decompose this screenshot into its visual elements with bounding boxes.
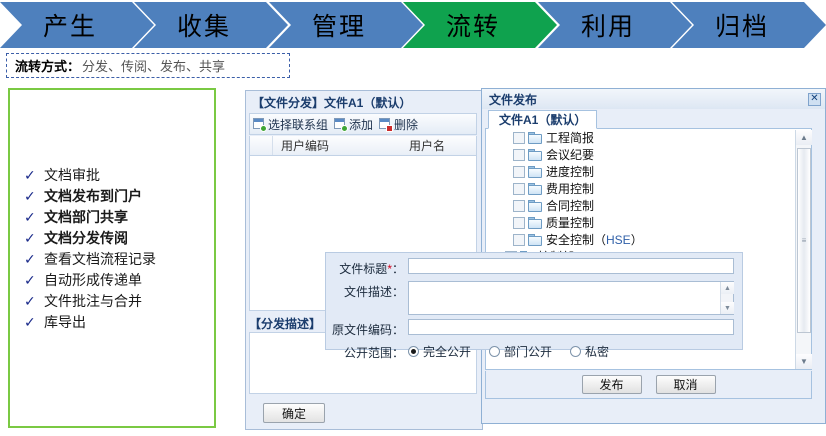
tree-item-label: 安全控制（HSE） <box>546 231 643 248</box>
radio-icon[interactable] <box>489 346 500 357</box>
tree-item-label: 会议纪要 <box>546 146 594 163</box>
flow-method-note: 流转方式： 分发、传阅、发布、共享 <box>6 53 290 78</box>
file-publish-titlebar: 文件发布 ✕ <box>482 89 825 109</box>
checklist-item-label: 文档发布到门户 <box>44 186 142 206</box>
scope-radio-option[interactable]: 部门公开 <box>489 343 552 360</box>
tree-checkbox[interactable] <box>513 149 525 161</box>
tree-item-label: 合同控制 <box>546 197 594 214</box>
checklist-item: ✓查看文档流程记录 <box>24 249 214 270</box>
toolbar-button-label: 选择联系组 <box>268 116 328 133</box>
flow-method-value: 分发、传阅、发布、共享 <box>82 56 225 75</box>
scroll-up-icon[interactable]: ▲ <box>796 130 812 145</box>
tree-checkbox[interactable] <box>513 234 525 246</box>
check-icon: ✓ <box>24 314 44 331</box>
scope-radio-label: 私密 <box>585 343 609 360</box>
tree-indent-spacer: ▶ <box>492 236 505 244</box>
publish-button[interactable]: 发布 <box>582 375 642 394</box>
check-icon: ✓ <box>24 272 44 289</box>
scroll-up-icon[interactable]: ▲ <box>721 282 734 294</box>
check-icon: ✓ <box>24 293 44 310</box>
form-row: 文件标题*： <box>326 258 734 277</box>
toolbar-button[interactable]: 添加 <box>334 116 373 133</box>
radio-icon[interactable] <box>408 346 419 357</box>
process-step-5[interactable]: 利用 <box>538 2 692 48</box>
checklist-item: ✓自动形成传递单 <box>24 270 214 291</box>
scope-radio-option[interactable]: 完全公开 <box>408 343 471 360</box>
tree-checkbox[interactable] <box>513 166 525 178</box>
tree-checkbox[interactable] <box>513 183 525 195</box>
grid-gutter <box>250 136 273 155</box>
file-publish-title: 文件发布 <box>489 91 537 108</box>
folder-icon <box>528 132 542 144</box>
tree-item[interactable]: ▶安全控制（HSE） <box>486 231 811 248</box>
file-title-input[interactable] <box>408 258 734 274</box>
process-step-label: 管理 <box>312 7 366 43</box>
checklist-item: ✓文档发布到门户 <box>24 186 214 207</box>
checklist-item: ✓文档分发传阅 <box>24 228 214 249</box>
toolbar-button[interactable]: 删除 <box>379 116 418 133</box>
checklist-item-label: 自动形成传递单 <box>44 270 142 290</box>
tree-item[interactable]: ▶合同控制 <box>486 197 811 214</box>
feature-checklist: ✓文档审批✓文档发布到门户✓文档部门共享✓文档分发传阅✓查看文档流程记录✓自动形… <box>24 165 214 333</box>
flow-method-label: 流转方式： <box>15 56 80 75</box>
file-description-textarea[interactable]: ▲▼ <box>408 281 734 315</box>
form-field-label: 原文件编码： <box>326 319 408 338</box>
column-header-user-name[interactable]: 用户名 <box>401 137 445 154</box>
tree-checkbox[interactable] <box>513 132 525 144</box>
tree-indent-spacer: ▶ <box>492 134 505 142</box>
radio-icon[interactable] <box>570 346 581 357</box>
tree-indent-spacer: ▶ <box>492 202 505 210</box>
file-distribution-title: 【文件分发】文件A1（默认） <box>246 92 478 112</box>
check-icon: ✓ <box>24 167 44 184</box>
checklist-item-label: 查看文档流程记录 <box>44 249 156 269</box>
tree-checkbox[interactable] <box>513 217 525 229</box>
scope-radio-label: 完全公开 <box>423 343 471 360</box>
column-header-user-code[interactable]: 用户编码 <box>273 137 401 154</box>
scope-row: 公开范围：完全公开部门公开私密 <box>326 342 734 361</box>
process-step-label: 收集 <box>177 7 231 43</box>
original-file-code-input[interactable] <box>408 319 734 335</box>
form-field-label: 文件标题*： <box>326 258 408 277</box>
scope-label: 公开范围： <box>326 342 408 361</box>
scrollbar-thumb[interactable]: ≡ <box>797 148 811 333</box>
feature-checklist-panel: ✓文档审批✓文档发布到门户✓文档部门共享✓文档分发传阅✓查看文档流程记录✓自动形… <box>8 88 216 428</box>
check-icon: ✓ <box>24 251 44 268</box>
close-icon[interactable]: ✕ <box>808 93 821 106</box>
scroll-down-icon[interactable]: ▼ <box>721 302 734 314</box>
tree-item-label: 费用控制 <box>546 180 594 197</box>
process-step-2[interactable]: 收集 <box>134 2 288 48</box>
tree-indent-spacer: ▶ <box>492 168 505 176</box>
tree-item-label: 工程简报 <box>546 129 594 146</box>
folder-icon <box>528 200 542 212</box>
toolbar-button-label: 添加 <box>349 116 373 133</box>
tree-item-label: 进度控制 <box>546 163 594 180</box>
tree-indent-spacer: ▶ <box>492 185 505 193</box>
folder-icon <box>528 217 542 229</box>
process-step-bar: 产生收集管理流转利用归档 <box>0 2 826 48</box>
folder-icon <box>528 149 542 161</box>
checklist-item-label: 文件批注与合并 <box>44 291 142 311</box>
process-step-label: 产生 <box>43 7 97 43</box>
process-step-6[interactable]: 归档 <box>672 2 826 48</box>
tree-item[interactable]: ▶进度控制 <box>486 163 811 180</box>
tree-item-label: 质量控制 <box>546 214 594 231</box>
toolbar-button-label: 删除 <box>394 116 418 133</box>
required-marker: * <box>387 262 392 276</box>
process-step-4[interactable]: 流转 <box>403 2 557 48</box>
check-icon: ✓ <box>24 209 44 226</box>
scope-radio-option[interactable]: 私密 <box>570 343 609 360</box>
publish-footer: 发布 取消 <box>485 371 812 399</box>
process-step-label: 流转 <box>446 7 500 43</box>
form-field-label: 文件描述： <box>326 281 408 300</box>
publish-tree-scrollbar[interactable]: ▲ ≡ ▼ <box>795 130 811 369</box>
checklist-item: ✓库导出 <box>24 312 214 333</box>
checklist-item-label: 文档部门共享 <box>44 207 128 227</box>
tree-item[interactable]: ▶费用控制 <box>486 180 811 197</box>
doc-delete-icon <box>379 118 392 131</box>
tree-indent-spacer: ▶ <box>492 219 505 227</box>
checklist-item-label: 文档审批 <box>44 165 100 185</box>
folder-icon <box>528 234 542 246</box>
textarea-scrollbar[interactable]: ▲▼ <box>720 282 733 314</box>
publish-form-modal: 文件标题*：文件描述：▲▼原文件编码：公开范围：完全公开部门公开私密 <box>325 252 743 350</box>
form-row: 原文件编码： <box>326 319 734 338</box>
tree-item[interactable]: ▶会议纪要 <box>486 146 811 163</box>
confirm-button[interactable]: 确定 <box>263 403 325 423</box>
tab-file-a1[interactable]: 文件A1（默认） <box>488 110 597 129</box>
scope-radio-group: 完全公开部门公开私密 <box>408 342 609 360</box>
publish-tabstrip: 文件A1（默认） <box>485 110 812 129</box>
tree-indent-spacer: ▶ <box>492 151 505 159</box>
check-icon: ✓ <box>24 188 44 205</box>
check-icon: ✓ <box>24 230 44 247</box>
process-step-label: 归档 <box>715 7 769 43</box>
process-step-1[interactable]: 产生 <box>0 2 154 48</box>
checklist-item-label: 文档分发传阅 <box>44 228 128 248</box>
file-distribution-toolbar: 选择联系组添加删除 <box>249 113 477 135</box>
tree-checkbox[interactable] <box>513 200 525 212</box>
checklist-item: ✓文件批注与合并 <box>24 291 214 312</box>
toolbar-button[interactable]: 选择联系组 <box>253 116 328 133</box>
doc-add-icon <box>334 118 347 131</box>
process-step-3[interactable]: 管理 <box>269 2 423 48</box>
cancel-button[interactable]: 取消 <box>656 375 716 394</box>
process-step-label: 利用 <box>581 7 635 43</box>
scroll-down-icon[interactable]: ▼ <box>796 354 812 369</box>
checklist-item: ✓文档部门共享 <box>24 207 214 228</box>
tree-item[interactable]: ▶工程简报 <box>486 129 811 146</box>
checklist-item: ✓文档审批 <box>24 165 214 186</box>
scope-radio-label: 部门公开 <box>504 343 552 360</box>
folder-icon <box>528 166 542 178</box>
doc-add-icon <box>253 118 266 131</box>
folder-icon <box>528 183 542 195</box>
tree-item[interactable]: ▶质量控制 <box>486 214 811 231</box>
form-row: 文件描述：▲▼ <box>326 281 734 315</box>
checklist-item-label: 库导出 <box>44 312 86 332</box>
user-grid-header: 用户编码 用户名 <box>249 136 477 156</box>
